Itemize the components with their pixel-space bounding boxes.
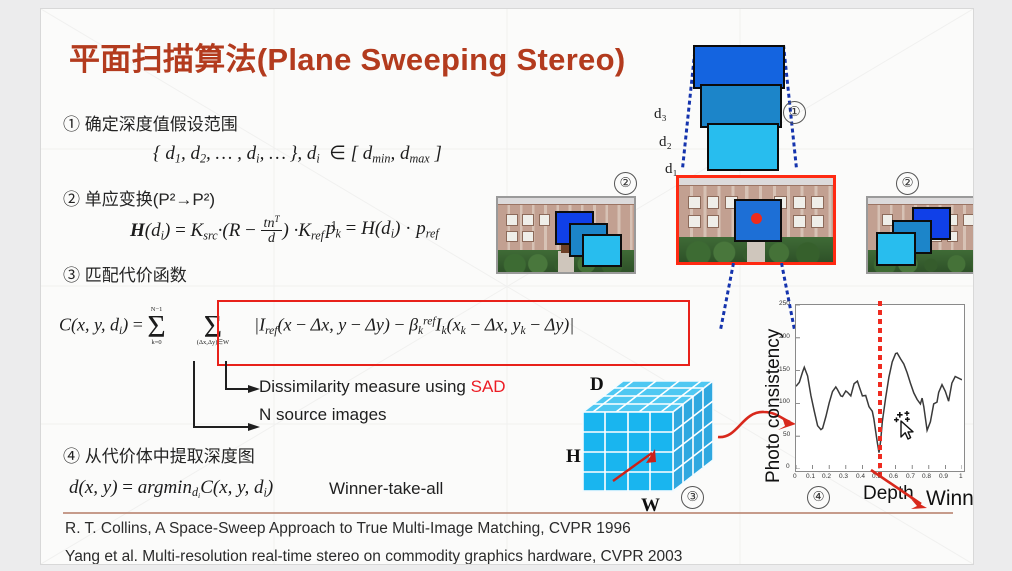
annotation-sad-label: SAD bbox=[471, 377, 506, 396]
bullet-item-4: ④ 从代价体中提取深度图 bbox=[63, 442, 255, 467]
figure-sweep-stack bbox=[661, 27, 841, 167]
figure-badge-1: ① bbox=[783, 101, 806, 124]
winner-label: Winner bbox=[926, 487, 974, 511]
citation-divider bbox=[41, 512, 973, 513]
annotation-dissimilarity: Dissimilarity measure using SAD bbox=[259, 377, 506, 397]
plot-xtick-1: 1 bbox=[959, 473, 963, 480]
figure-badge-3: ③ bbox=[681, 486, 704, 509]
bullet-text-2: 单应变换(P²→P²) bbox=[85, 190, 215, 209]
page-title: 平面扫描算法(Plane Sweeping Stereo) bbox=[69, 34, 625, 79]
bullet-text-3: 匹配代价函数 bbox=[85, 266, 187, 285]
citation-2: Yang et al. Multi-resolution real-time s… bbox=[65, 548, 682, 565]
formula-point-map: pk = H(di) · pref bbox=[326, 218, 439, 241]
figure-cost-volume bbox=[551, 367, 731, 512]
patch-plane-1-left bbox=[582, 234, 621, 268]
citation-1: R. T. Collins, A Space-Sweep Approach to… bbox=[65, 520, 631, 538]
plot-xtick-0.2: 0.2 bbox=[822, 473, 831, 480]
depth-plane-2 bbox=[700, 84, 782, 128]
bullet-marker-4: ④ bbox=[63, 447, 80, 466]
plot-xtick-0.3: 0.3 bbox=[839, 473, 848, 480]
left-margin bbox=[0, 0, 40, 571]
figure-badge-2-left: ② bbox=[614, 172, 637, 195]
annotation-n-source-images: N source images bbox=[259, 405, 387, 425]
depth-plane-1 bbox=[707, 123, 779, 171]
annotation-connector-lines bbox=[186, 361, 306, 437]
ref-ray-left bbox=[719, 263, 735, 330]
plot-xtick-0: 0 bbox=[793, 473, 797, 480]
cost-volume-label-D: D bbox=[590, 374, 604, 396]
plot-xtick-0.4: 0.4 bbox=[856, 473, 865, 480]
cost-volume-label-H: H bbox=[566, 446, 581, 468]
slide-viewer: 平面扫描算法(Plane Sweeping Stereo) ① 确定深度值假设范… bbox=[0, 0, 1012, 571]
figure-source-image-left bbox=[496, 196, 636, 274]
annotation-winner-take-all: Winner-take-all bbox=[329, 479, 443, 499]
reference-photo bbox=[676, 175, 836, 265]
plot-ytick-50: 50 bbox=[783, 431, 790, 438]
annotation-dissimilarity-text: Dissimilarity measure using bbox=[259, 377, 471, 396]
right-margin bbox=[972, 0, 1012, 571]
plot-ytick-150: 150 bbox=[779, 366, 790, 373]
bullet-text-1: 确定深度值假设范围 bbox=[85, 115, 238, 134]
plot-area bbox=[795, 304, 965, 472]
plot-ytick-250: 250 bbox=[779, 300, 790, 307]
bullet-marker-2: ② bbox=[63, 190, 80, 209]
slide-canvas: 平面扫描算法(Plane Sweeping Stereo) ① 确定深度值假设范… bbox=[40, 8, 974, 565]
cost-volume-cube bbox=[551, 367, 731, 512]
figure-badge-4: ④ bbox=[807, 486, 830, 509]
depth-label-d3: d₃ bbox=[654, 106, 667, 123]
figure-reference-image bbox=[676, 175, 836, 265]
depth-plane-3 bbox=[693, 45, 785, 89]
figure-source-image-right bbox=[866, 196, 974, 274]
source-photo-left bbox=[496, 196, 636, 274]
bullet-item-2: ② 单应变换(P²→P²) bbox=[63, 185, 215, 210]
formula-depth-set: { d1, d2, … , di, … }, di ∈ [ dmin, dmax… bbox=[153, 142, 442, 166]
patch-plane-1-right bbox=[876, 232, 915, 266]
plot-ytick-0: 0 bbox=[786, 463, 790, 470]
formula-homography: H(di) = Ksrc·(R − tnTd) ·Kref−1 bbox=[130, 215, 337, 246]
bullet-marker-1: ① bbox=[63, 115, 80, 134]
plot-ytick-100: 100 bbox=[779, 398, 790, 405]
figure-badge-2-right: ② bbox=[896, 172, 919, 195]
plot-ytick-200: 200 bbox=[779, 333, 790, 340]
bullet-item-3: ③ 匹配代价函数 bbox=[63, 261, 187, 286]
plot-y-axis-label: Photo consistency bbox=[763, 329, 785, 483]
bullet-marker-3: ③ bbox=[63, 266, 80, 285]
source-photo-right bbox=[866, 196, 974, 274]
cost-function-highlight-box bbox=[217, 300, 690, 366]
bullet-item-1: ① 确定深度值假设范围 bbox=[63, 110, 238, 135]
plot-xtick-0.1: 0.1 bbox=[806, 473, 815, 480]
cost-volume-label-W: W bbox=[641, 495, 660, 517]
depth-label-d2: d₂ bbox=[659, 134, 672, 151]
winner-marker-line bbox=[878, 301, 882, 479]
figure-photo-consistency-plot: Photo consistency bbox=[751, 296, 973, 512]
bullet-text-4: 从代价体中提取深度图 bbox=[85, 447, 255, 466]
move-cursor bbox=[891, 411, 919, 441]
formula-argmin: d(x, y) = argmindiC(x, y, di) bbox=[69, 477, 273, 501]
